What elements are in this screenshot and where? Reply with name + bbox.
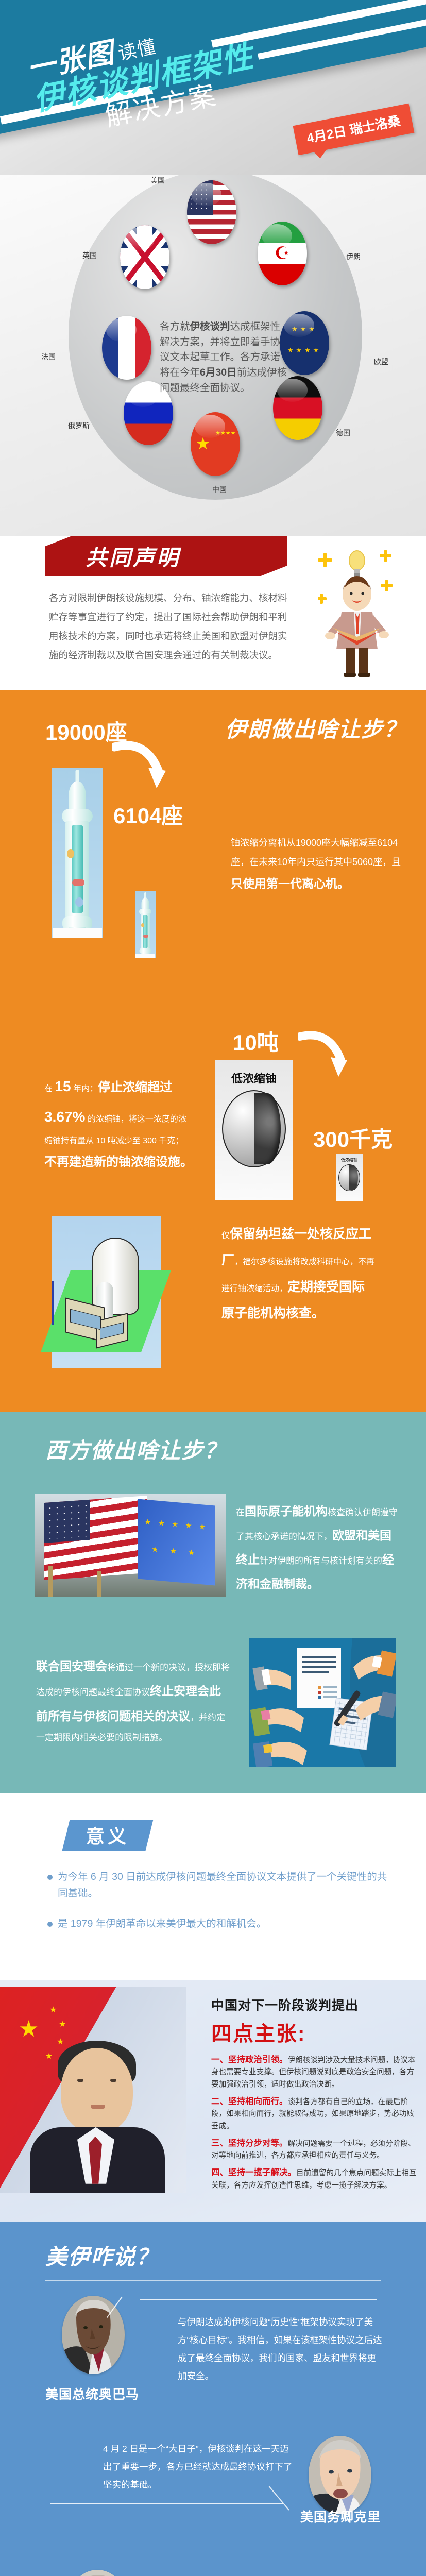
stat-centrifuges-after: 6104座 bbox=[113, 799, 183, 830]
significance-section: 意义 为今年 6 月 30 日前达成伊核问题最终全面协议文本提供了一个关键性的共… bbox=[0, 1793, 426, 1980]
arrow-down-curve-icon-2 bbox=[298, 1029, 354, 1086]
flag-us bbox=[187, 180, 236, 244]
quote-name-kerry: 美国务卿克里 bbox=[300, 2507, 381, 2526]
flag-label-uk: 英国 bbox=[82, 250, 97, 261]
w2-bold-unsc: 联合国安理会 bbox=[36, 1659, 107, 1673]
iran-point-1-pre: 铀浓缩分离机从19000座大幅缩减至6104座，在未来10年内只运行其中5060… bbox=[231, 838, 401, 867]
iran-point-3-text: 仅保留纳坦兹一处核反应工厂，福尔多核设施将改成科研中心，不再进行铀浓缩活动，定期… bbox=[221, 1221, 376, 1327]
china-point-3-title: 三、坚持分步对等。 bbox=[211, 2139, 288, 2148]
china-flag-star-icon-3: ★ bbox=[57, 2037, 64, 2047]
china-flag-star-icon-4: ★ bbox=[45, 2051, 53, 2061]
uranium-illustration-small: 低浓缩铀 bbox=[336, 1154, 363, 1201]
flag-iran bbox=[258, 222, 307, 285]
quote-block-kerry: 4 月 2 日是一个“大日子”，伊核谈判在这一天迈出了重要一步，各方已经就达成最… bbox=[0, 2432, 426, 2565]
photo-flag-eu bbox=[138, 1499, 215, 1585]
uranium-illustration-large: 低浓缩铀 bbox=[215, 1060, 293, 1200]
w1-mid2: 针对伊朗的所有与核计划有关的 bbox=[260, 1556, 382, 1566]
avatar-obama bbox=[62, 2296, 125, 2374]
p2-d: 吨减少至 bbox=[108, 1137, 141, 1145]
kerry-portrait-icon bbox=[309, 2436, 371, 2514]
joint-statement-ribbon: 共同声明 bbox=[45, 536, 287, 576]
china-points-panel: 中国对下一阶段谈判提出 四点主张: 一、坚持政治引领。伊朗核谈判涉及大量技术问题… bbox=[211, 1995, 417, 2196]
callout-horizontal-line-2 bbox=[50, 2503, 283, 2504]
w1-bold-iaea: 国际原子能机构 bbox=[245, 1504, 328, 1518]
parties-circle-section: 美国 英国 伊朗 法国 欧盟 俄罗斯 德国 中国 各方就伊核谈判达成框架性解决方… bbox=[0, 175, 426, 536]
flag-label-france: 法国 bbox=[41, 351, 56, 362]
p2-bold-nonew: 不再建造新的铀浓缩设施。 bbox=[44, 1155, 193, 1169]
joint-statement-title: 共同声明 bbox=[86, 540, 180, 572]
china-flag-star-icon-2: ★ bbox=[59, 2019, 66, 2029]
infographic-page: 一张图 读懂 伊核谈判框架性 解决方案 4月2日 瑞士洛桑 美国 英国 伊朗 法… bbox=[0, 0, 426, 2576]
hero-header: 一张图 读懂 伊核谈判框架性 解决方案 4月2日 瑞士洛桑 bbox=[0, 0, 426, 175]
w1-pre: 在 bbox=[236, 1507, 245, 1517]
joint-statement-body: 各方对限制伊朗核设施规模、分布、铀浓缩能力、核材料贮存等事宜进行了约定，提出了国… bbox=[49, 588, 291, 665]
uranium-label-large: 低浓缩铀 bbox=[215, 1070, 293, 1086]
iran-point-1-bold: 只使用第一代离心机。 bbox=[231, 877, 349, 890]
china-point-4: 四、坚持一揽子解决。目前遗留的几个焦点问题实际上相互关联，各方应发挥创造性思维，… bbox=[211, 2166, 417, 2192]
photo-flag-us bbox=[44, 1496, 147, 1580]
quote-text-kerry: 4 月 2 日是一个“大日子”，伊核谈判在这一天迈出了重要一步，各方已经就达成最… bbox=[103, 2440, 294, 2494]
china-flag-star-big-icon: ★ bbox=[19, 2016, 39, 2042]
west-concessions-section: 西方做出啥让步？ 在国际原子能机构核查确认伊朗遵守了其核心承诺的情况下，欧盟和美… bbox=[0, 1412, 426, 1793]
obama-portrait-icon bbox=[62, 2296, 125, 2374]
parties-summary-text: 各方就伊核谈判达成框架性解决方案，并将立即着手协议文本起草工作。各方承诺将在今年… bbox=[160, 319, 289, 396]
flag-france bbox=[102, 316, 151, 380]
iran-point-1-text: 铀浓缩分离机从19000座大幅缩减至6104座，在未来10年内只运行其中5060… bbox=[231, 834, 409, 896]
bullet-dot-icon bbox=[47, 1922, 53, 1927]
china-four-points-section: ★ ★ ★ ★ ★ 中国对下一阶段谈判提出 四点主张: 一、坚持政治引领。伊朗核… bbox=[0, 1980, 426, 2222]
wang-yi-photo: ★ ★ ★ ★ ★ bbox=[0, 1987, 186, 2193]
iran-concessions-section: 伊朗做出啥让步？ 19000座 6104座 bbox=[0, 690, 426, 1412]
p2-num-pct: 3.67% bbox=[44, 1109, 85, 1125]
china-flag-star-icon-1: ★ bbox=[49, 2005, 57, 2015]
list-item: 为今年 6 月 30 日前达成伊核问题最终全面协议文本提供了一个关键性的共同基础… bbox=[47, 1869, 387, 1902]
p2-num-years: 15 bbox=[55, 1078, 71, 1094]
quote-block-zarif: 伊朗迈出这一步是为了告诉那些对伊朗指手画脚的人，伊朗的核计划“基于和平目的”。 … bbox=[0, 2565, 426, 2576]
summary-bold-1: 伊核谈判 bbox=[190, 321, 230, 332]
date-location-badge: 4月2日 瑞士洛桑 bbox=[293, 104, 415, 156]
p2-a: 在 bbox=[44, 1084, 53, 1093]
china-points-list: 一、坚持政治引领。伊朗核谈判涉及大量技术问题，协议本身也需要专业支撑。但伊核问题… bbox=[211, 2053, 417, 2192]
reactor-illustration bbox=[52, 1216, 161, 1368]
stat-uranium-before: 10吨 bbox=[233, 1025, 279, 1057]
us-eu-flags-photo bbox=[35, 1494, 226, 1597]
flag-label-eu: 欧盟 bbox=[374, 357, 388, 367]
china-point-1-title: 一、坚持政治引领。 bbox=[211, 2055, 288, 2064]
centrifuge-illustration-large bbox=[52, 768, 103, 938]
avatar-zarif bbox=[66, 2570, 129, 2576]
agreement-signing-illustration bbox=[249, 1638, 396, 1767]
zarif-portrait-icon bbox=[66, 2570, 129, 2576]
summary-bold-2: 6月30日 bbox=[200, 367, 237, 378]
stat-uranium-after: 300千克 bbox=[313, 1122, 393, 1154]
flag-label-germany: 德国 bbox=[336, 428, 350, 438]
avatar-kerry bbox=[309, 2436, 371, 2514]
china-heading-1: 中国对下一阶段谈判提出 bbox=[211, 1995, 417, 2014]
china-point-1: 一、坚持政治引领。伊朗核谈判涉及大量技术问题，协议本身也需要专业支撑。但伊核问题… bbox=[211, 2053, 417, 2091]
callout-horizontal-line bbox=[140, 2299, 377, 2300]
centrifuge-illustration-small bbox=[135, 891, 156, 958]
flag-label-us: 美国 bbox=[150, 175, 165, 185]
china-point-2-title: 二、坚持相向而行。 bbox=[211, 2097, 288, 2106]
flag-label-russia: 俄罗斯 bbox=[68, 420, 90, 431]
joint-statement-section: 共同声明 各方对限制伊朗核设施规模、分布、铀浓缩能力、核材料贮存等事宜进行了约定… bbox=[0, 536, 426, 690]
flag-label-iran: 伊朗 bbox=[346, 251, 361, 262]
flag-label-china: 中国 bbox=[212, 484, 227, 495]
person-head bbox=[61, 2048, 133, 2133]
iran-point-2-text: 在 15 年内：停止浓缩超过 3.67% 的浓缩铀，将这一浓度的浓缩铀持有量从 … bbox=[44, 1072, 194, 1176]
reactions-section: 美伊咋说？ 与伊朗达成的伊核问题“历史性”框 bbox=[0, 2222, 426, 2576]
china-point-3: 三、坚持分步对等。解决问题需要一个过程，必须分阶段、对等地向前推进，各方都应承担… bbox=[211, 2137, 417, 2162]
p2-num-kg: 300 bbox=[143, 1137, 157, 1145]
hands-document-icon bbox=[249, 1638, 396, 1767]
quote-name-obama: 美国总统奥巴马 bbox=[45, 2384, 139, 2403]
flag-uk bbox=[120, 225, 169, 289]
bullet-dot-icon bbox=[47, 1875, 53, 1880]
significance-item-text: 是 1979 年伊朗革命以来美伊最大的和解机会。 bbox=[58, 1916, 266, 1933]
west-point-1-text: 在国际原子能机构核查确认伊朗遵守了其核心承诺的情况下，欧盟和美国终止针对伊朗的所… bbox=[236, 1499, 401, 1597]
significance-list: 为今年 6 月 30 日前达成伊核问题最终全面协议文本提供了一个关键性的共同基础… bbox=[47, 1869, 387, 1933]
china-point-2: 二、坚持相向而行。谈判各方都有自己的立场，在最后阶段，如果相向而行，就能取得成功… bbox=[211, 2095, 417, 2133]
significance-item-text: 为今年 6 月 30 日前达成伊核问题最终全面协议文本提供了一个关键性的共同基础… bbox=[58, 1869, 387, 1902]
p2-num-tons: 10 bbox=[96, 1137, 105, 1145]
quote-text-obama: 与伊朗达成的伊核问题“历史性”框架协议实现了美方“核心目标”。我相信，如果在该框… bbox=[178, 2313, 384, 2385]
uranium-label-small: 低浓缩铀 bbox=[336, 1157, 363, 1163]
list-item: 是 1979 年伊朗革命以来美伊最大的和解机会。 bbox=[47, 1916, 387, 1933]
p2-bold-stop: 停止浓缩超过 bbox=[98, 1080, 172, 1094]
p3-pre: 仅 bbox=[221, 1231, 230, 1240]
businessman-mascot-icon bbox=[318, 549, 395, 678]
china-heading-2: 四点主张: bbox=[211, 2017, 417, 2047]
p2-b: 年内： bbox=[73, 1084, 98, 1093]
reactions-divider bbox=[45, 2280, 381, 2281]
summary-pre: 各方就 bbox=[160, 321, 190, 332]
reactions-title: 美伊咋说？ bbox=[0, 2240, 426, 2271]
west-point-2-text: 联合国安理会将通过一个新的决议，授权即将达成的伊核问题最终全面协议终止安理会此前… bbox=[36, 1654, 232, 1747]
arrow-down-curve-icon bbox=[112, 739, 174, 795]
china-point-4-title: 四、坚持一揽子解决。 bbox=[211, 2168, 296, 2177]
quote-block-obama: 与伊朗达成的伊核问题“历史性”框架协议实现了美方“核心目标”。我相信，如果在该框… bbox=[0, 2294, 426, 2432]
west-section-title: 西方做出啥让步？ bbox=[0, 1433, 426, 1465]
p2-e: 千克； bbox=[159, 1137, 183, 1145]
flag-china bbox=[191, 412, 240, 476]
significance-tag-label: 意义 bbox=[86, 1822, 129, 1849]
w2-mid2: 议 bbox=[141, 1687, 150, 1697]
significance-tag: 意义 bbox=[62, 1820, 154, 1851]
